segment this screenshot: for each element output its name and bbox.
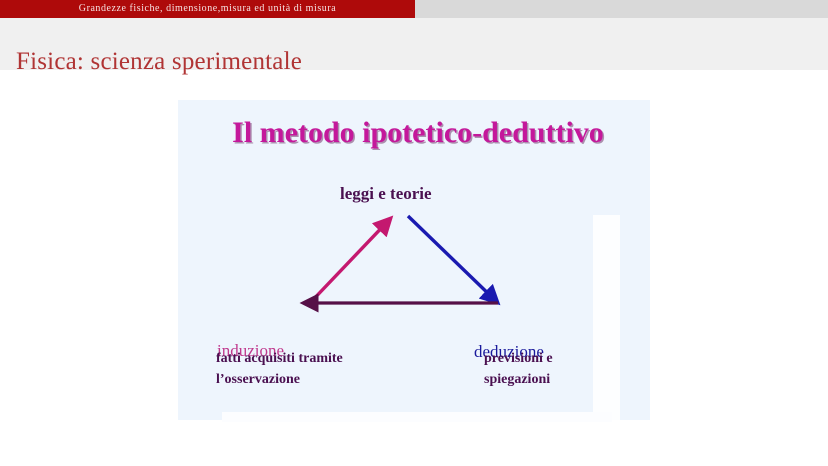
- slide-title-band: Fisica: scienza sperimentale: [0, 18, 828, 70]
- running-header-strip: Grandezze fisiche, dimensione,misura ed …: [0, 0, 828, 18]
- label-fatti-line2: l’osservazione: [216, 369, 343, 390]
- deduction-arrow: [408, 216, 497, 302]
- label-previsioni-line1: previsioni e: [484, 348, 553, 369]
- label-fatti-line1: fatti acquisiti tramite: [216, 348, 343, 369]
- page-title: Fisica: scienza sperimentale: [16, 48, 302, 76]
- label-leggi-e-teorie: leggi e teorie: [340, 184, 432, 204]
- running-header-title: Grandezze fisiche, dimensione,misura ed …: [0, 0, 415, 18]
- label-previsioni-line2: spiegazioni: [484, 369, 553, 390]
- figure-panel: Il metodo ipotetico-deduttivo leggi e te…: [178, 100, 650, 420]
- induction-arrow: [308, 219, 390, 305]
- label-fatti-osservazione: fatti acquisiti tramite l’osservazione: [216, 348, 343, 390]
- label-previsioni-spiegazioni: previsioni e spiegazioni: [484, 348, 553, 390]
- running-header-tab: Grandezze fisiche, dimensione,misura ed …: [0, 0, 415, 18]
